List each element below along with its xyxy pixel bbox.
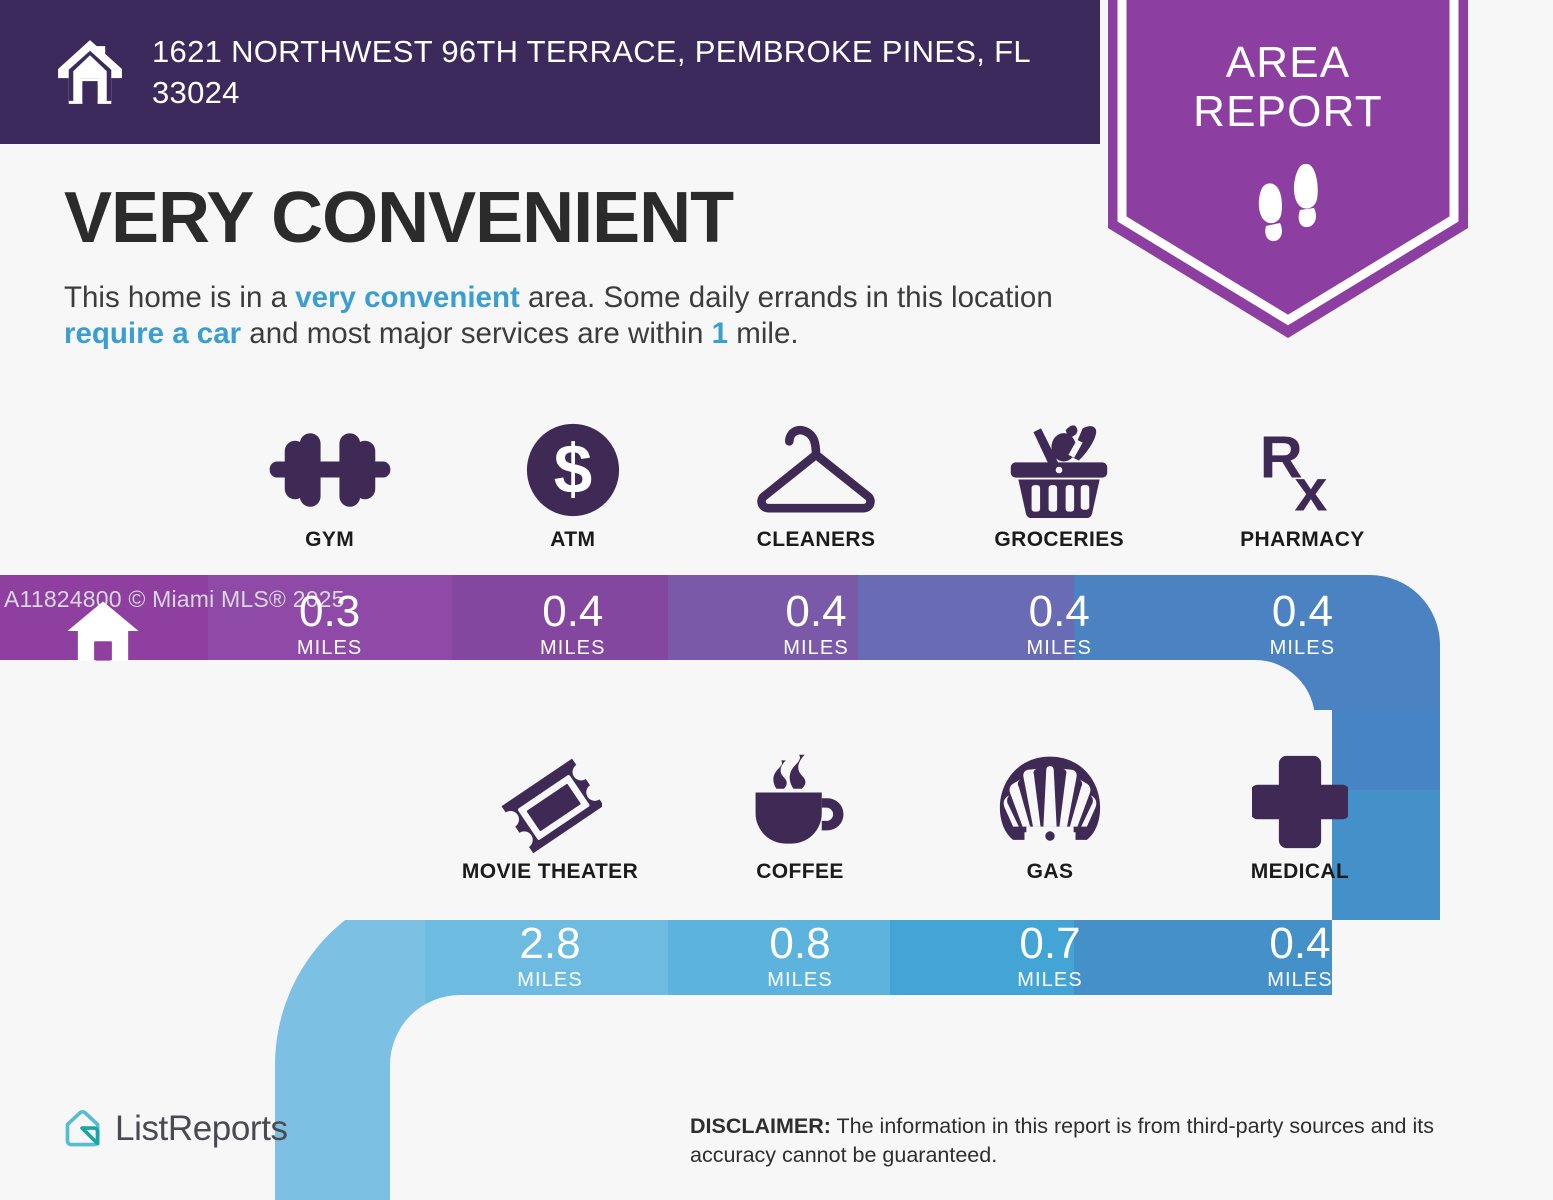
distance-unit: MILES [1181,637,1424,660]
hero-text: area. Some daily errands in this locatio… [520,281,1053,314]
listreports-wordmark: ListReports [115,1109,288,1149]
amenity-atm: $ ATM [451,416,694,552]
distance-unit: MILES [208,637,451,660]
shopping-basket-icon [1007,416,1111,524]
amenity-label: GYM [305,528,354,552]
amenity-pharmacy: R x PHARMACY [1181,416,1424,552]
distance-unit: MILES [451,637,694,660]
amenity-gas: GAS [925,748,1175,884]
badge-title: AREA REPORT [1108,38,1468,137]
listreports-house-tag-icon [62,1108,104,1150]
page-title: VERY CONVENIENT [64,182,1104,254]
medical-cross-icon [1252,748,1348,856]
distance-unit: MILES [425,969,675,992]
movie-ticket-icon [498,748,602,856]
distance-value: 0.3 [208,590,451,635]
ribbon-segment-left-tail [0,920,240,1200]
distance-value: 0.7 [925,922,1175,967]
amenity-label: GROCERIES [994,528,1124,552]
dumbbell-icon [264,416,396,524]
ribbon-segment-row2-left [240,920,425,1060]
distance-movie-theater: 2.8 MILES [425,922,675,992]
hero-section: VERY CONVENIENT This home is in a very c… [64,182,1104,352]
distance-coffee: 0.8 MILES [675,922,925,992]
distance-value: 0.8 [675,922,925,967]
amenity-row-1: GYM $ ATM CLEANERS [208,416,1424,552]
distance-unit: MILES [938,637,1181,660]
amenity-coffee: COFFEE [675,748,925,884]
badge-title-line1: AREA [1108,38,1468,87]
hero-highlight: very convenient [295,281,520,314]
distance-gym: 0.3 MILES [208,590,451,660]
distance-value: 0.4 [451,590,694,635]
distance-unit: MILES [675,969,925,992]
distance-value: 2.8 [425,922,675,967]
distance-groceries: 0.4 MILES [938,590,1181,660]
amenity-label: CLEANERS [757,528,876,552]
amenity-label: GAS [1027,860,1074,884]
distance-medical: 0.4 MILES [1175,922,1425,992]
amenity-cleaners: CLEANERS [694,416,937,552]
disclaimer: DISCLAIMER: The information in this repo… [690,1112,1500,1170]
hero-text: mile. [728,317,798,350]
dollar-circle-icon: $ [525,416,621,524]
amenity-row-2: MOVIE THEATER COFFEE [425,748,1425,884]
amenity-label: MEDICAL [1251,860,1349,884]
hero-highlight: 1 [712,317,728,350]
amenity-groceries: GROCERIES [938,416,1181,552]
distance-atm: 0.4 MILES [451,590,694,660]
footprints-icon [1256,164,1326,252]
amenity-label: PHARMACY [1240,528,1365,552]
rx-icon: R x [1254,416,1350,524]
property-address: 1621 NORTHWEST 96TH TERRACE, PEMBROKE PI… [152,31,1052,113]
distance-unit: MILES [925,969,1175,992]
distance-unit: MILES [1175,969,1425,992]
coffee-cup-icon [748,748,852,856]
amenity-label: COFFEE [756,860,844,884]
distance-unit: MILES [694,637,937,660]
area-report-badge: AREA REPORT [1108,0,1468,338]
shell-icon [998,748,1102,856]
distance-value: 0.4 [938,590,1181,635]
amenity-gym: GYM [208,416,451,552]
home-marker-icon [66,598,140,664]
hero-highlight: require a car [64,317,241,350]
clothes-hanger-icon [754,416,878,524]
distance-value: 0.4 [1181,590,1424,635]
hero-text: This home is in a [64,281,295,314]
amenity-medical: MEDICAL [1175,748,1425,884]
distance-row-2: 2.8 MILES 0.8 MILES 0.7 MILES 0.4 MILES [425,922,1425,992]
distance-row-1: 0.3 MILES 0.4 MILES 0.4 MILES 0.4 MILES … [208,590,1424,660]
distance-gas: 0.7 MILES [925,922,1175,992]
amenity-label: ATM [550,528,595,552]
amenity-label: MOVIE THEATER [462,860,638,884]
hero-text: and most major services are within [241,317,712,350]
amenity-movie-theater: MOVIE THEATER [425,748,675,884]
distance-cleaners: 0.4 MILES [694,590,937,660]
distance-pharmacy: 0.4 MILES [1181,590,1424,660]
svg-text:x: x [1295,456,1328,518]
hero-paragraph: This home is in a very convenient area. … [64,280,1094,352]
badge-title-line2: REPORT [1108,87,1468,136]
home-icon [52,34,128,110]
distance-value: 0.4 [1175,922,1425,967]
listreports-logo[interactable]: ListReports [62,1108,288,1150]
distance-value: 0.4 [694,590,937,635]
disclaimer-label: DISCLAIMER: [690,1114,831,1138]
header-bar: 1621 NORTHWEST 96TH TERRACE, PEMBROKE PI… [0,0,1100,144]
svg-text:$: $ [554,430,592,508]
